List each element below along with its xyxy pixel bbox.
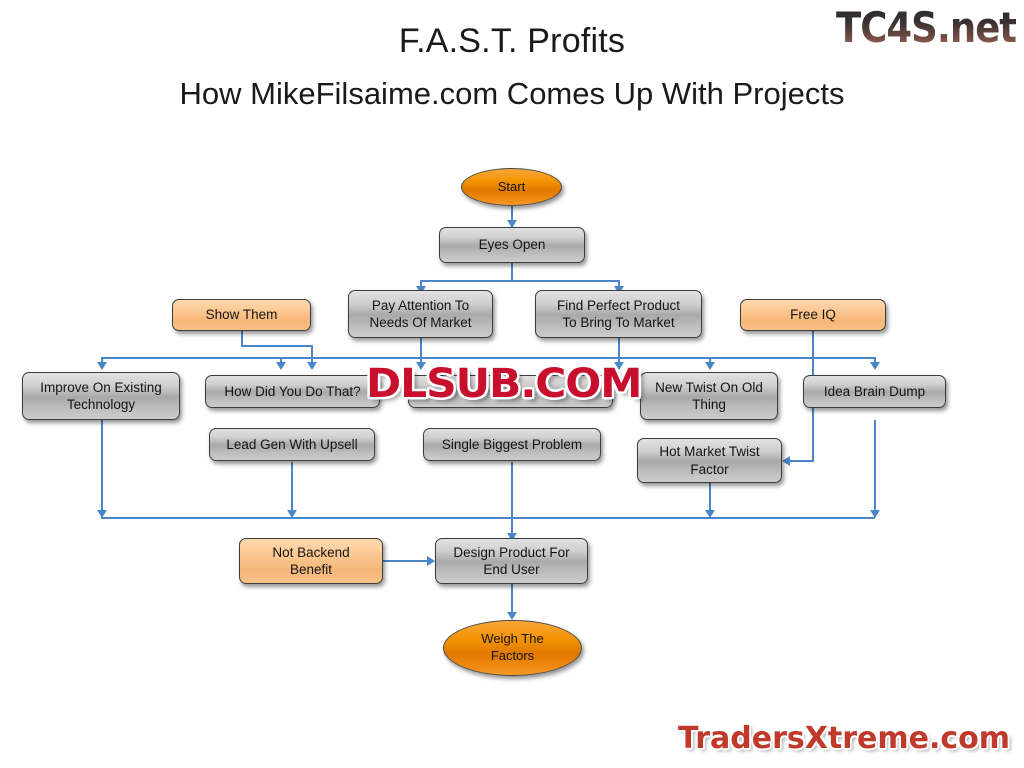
node-design-product-line2: End User	[483, 562, 539, 577]
node-hot-market-line1: Hot Market Twist	[659, 444, 759, 459]
connector-eyesopen-down	[511, 262, 513, 282]
node-eyes-open[interactable]: Eyes Open	[439, 227, 585, 263]
node-weigh-label: Weigh The Factors	[450, 631, 575, 664]
node-free-iq[interactable]: Free IQ	[740, 299, 886, 331]
node-lead-gen-label: Lead Gen With Upsell	[216, 436, 368, 453]
node-how-did-you-label: How Did You Do That?	[212, 383, 373, 400]
node-weigh-line2: Factors	[491, 648, 534, 663]
node-free-iq-label: Free IQ	[747, 306, 879, 323]
node-not-backend-line1: Not Backend	[272, 545, 349, 560]
node-eyes-open-label: Eyes Open	[446, 236, 578, 253]
connector-distribution-bar	[101, 357, 875, 359]
connector-showthem-jog	[241, 345, 313, 347]
node-new-twist-label: New Twist On Old Thing	[647, 379, 771, 414]
node-new-twist-on-old-thing[interactable]: New Twist On Old Thing	[640, 372, 778, 420]
arrowhead-weigh	[507, 612, 517, 620]
arrowhead-improvetech-collector	[97, 510, 107, 518]
node-design-product-for-end-user[interactable]: Design Product For End User	[435, 538, 588, 584]
connector-row2-bar	[420, 280, 620, 282]
arrowhead-designprod-left	[427, 556, 435, 566]
node-show-them-label: Show Them	[179, 306, 304, 323]
arrowhead-newtwist-top	[614, 362, 624, 370]
node-new-twist-line2: Thing	[692, 397, 726, 412]
node-find-perfect-product[interactable]: Find Perfect Product To Bring To Market	[535, 290, 702, 338]
node-find-perfect-product-label: Find Perfect Product To Bring To Market	[542, 297, 695, 332]
connector-notbackend-to-designprod	[383, 560, 431, 562]
node-improve-tech-line2: Technology	[67, 397, 135, 412]
node-not-backend-label: Not Backend Benefit	[246, 544, 376, 579]
node-pay-attention-line2: Needs Of Market	[369, 315, 471, 330]
arrowhead-hotmarket-collector	[705, 510, 715, 518]
node-improve-tech-label: Improve On Existing Technology	[29, 379, 173, 414]
node-show-them[interactable]: Show Them	[172, 299, 311, 331]
node-not-backend-line2: Benefit	[290, 562, 332, 577]
node-find-product-line1: Find Perfect Product	[557, 298, 680, 313]
node-improve-tech-line1: Improve On Existing	[40, 380, 162, 395]
node-how-did-you-do-that[interactable]: How Did You Do That?	[205, 375, 380, 408]
node-find-product-line2: To Bring To Market	[562, 315, 674, 330]
node-pay-attention[interactable]: Pay Attention To Needs Of Market	[348, 290, 493, 338]
node-design-product-label: Design Product For End User	[442, 544, 581, 579]
tradersxtreme-logo: TradersXtreme.com	[678, 721, 1010, 756]
connector-freeiq-to-hotmarket	[790, 460, 814, 462]
node-not-backend-benefit[interactable]: Not Backend Benefit	[239, 538, 383, 584]
page-subtitle: How MikeFilsaime.com Comes Up With Proje…	[0, 76, 1024, 112]
arrowhead-improvetech	[97, 362, 107, 370]
connector-leadgen-down	[291, 462, 293, 517]
node-weigh-the-factors[interactable]: Weigh The Factors	[443, 620, 582, 676]
arrowhead-howdidyou	[276, 362, 286, 370]
arrowhead-newtwist	[705, 362, 715, 370]
arrowhead-leadgen-collector	[287, 510, 297, 518]
tc4s-logo: TC4S.net	[836, 4, 1016, 52]
node-design-product-line1: Design Product For	[453, 545, 569, 560]
node-pay-attention-label: Pay Attention To Needs Of Market	[355, 297, 486, 332]
arrowhead-ideadump	[870, 362, 880, 370]
node-single-biggest-problem[interactable]: Single Biggest Problem	[423, 428, 601, 461]
node-hot-market-label: Hot Market Twist Factor	[644, 443, 775, 478]
node-idea-brain-dump[interactable]: Idea Brain Dump	[803, 375, 946, 408]
connector-improvetech-down	[101, 420, 103, 517]
node-start[interactable]: Start	[461, 168, 562, 206]
flowchart-canvas: F.A.S.T. Profits How MikeFilsaime.com Co…	[0, 0, 1024, 768]
connector-showthem-down	[241, 331, 243, 345]
connector-ideadump-down	[874, 420, 876, 517]
connector-collector-bar	[101, 517, 875, 519]
node-single-biggest-problem-label: Single Biggest Problem	[430, 436, 594, 453]
arrowhead-obscured-top	[416, 362, 426, 370]
node-hot-market-twist-factor[interactable]: Hot Market Twist Factor	[637, 438, 782, 483]
arrowhead-ideadump-collector	[870, 510, 880, 518]
node-weigh-line1: Weigh The	[481, 631, 543, 646]
node-improve-on-existing-technology[interactable]: Improve On Existing Technology	[22, 372, 180, 420]
arrowhead-hotmarket	[782, 456, 790, 466]
node-idea-brain-dump-label: Idea Brain Dump	[810, 383, 939, 400]
node-hot-market-line2: Factor	[690, 462, 728, 477]
node-new-twist-line1: New Twist On Old	[655, 380, 763, 395]
node-start-label: Start	[468, 179, 555, 196]
node-obscured-by-watermark[interactable]	[408, 375, 613, 408]
node-pay-attention-line1: Pay Attention To	[372, 298, 469, 313]
node-lead-gen-with-upsell[interactable]: Lead Gen With Upsell	[209, 428, 375, 461]
arrowhead-howdidyou-left	[307, 362, 317, 370]
